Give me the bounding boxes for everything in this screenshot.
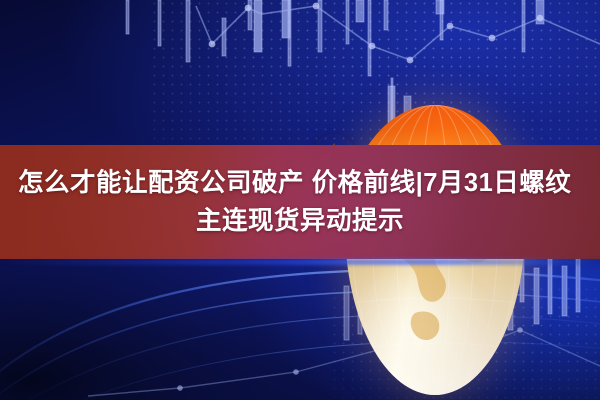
headline-text-block: 怎么才能让配资公司破产 价格前线|7月31日螺纹 主连现货异动提示 <box>0 145 600 259</box>
thumbnail-canvas: $ $ 怎么才能让配资公司破产 价格前线|7月31日螺纹 主连现货异动提示 <box>0 0 600 400</box>
headline-line-1: 怎么才能让配资公司破产 价格前线|7月31日螺纹 <box>8 164 592 202</box>
headline-line-2: 主连现货异动提示 <box>196 202 404 240</box>
headline-banner: 怎么才能让配资公司破产 价格前线|7月31日螺纹 主连现货异动提示 <box>0 145 600 259</box>
banner-underglow <box>0 259 600 265</box>
